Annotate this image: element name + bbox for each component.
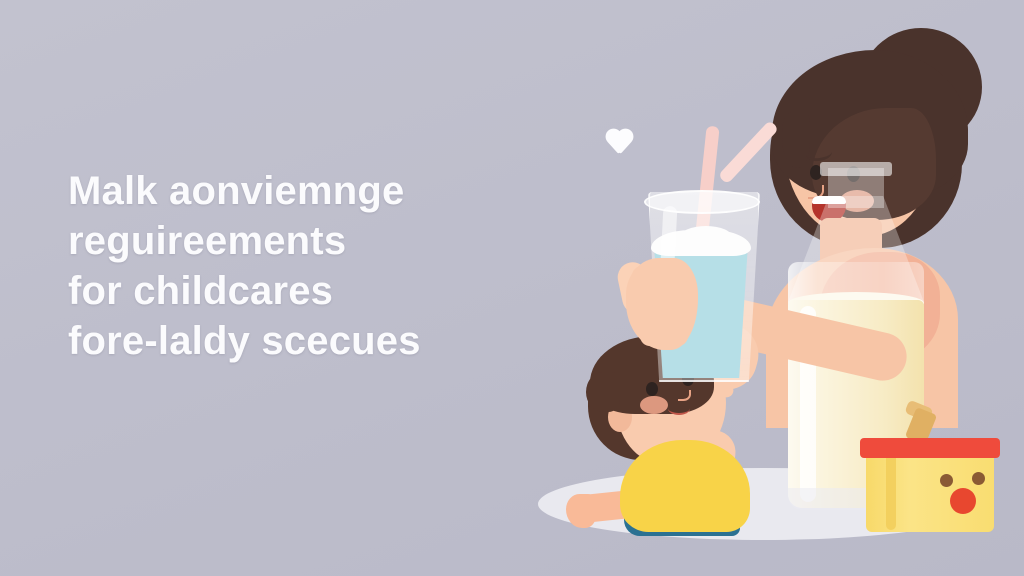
child-eye-left — [646, 382, 658, 396]
headline-line-1: Malk aonviemnge — [68, 166, 498, 216]
woman-finger — [634, 286, 690, 306]
headline-line-2: reguireements — [68, 216, 498, 266]
glass-foam-highlight — [680, 226, 732, 248]
woman-finger — [636, 306, 692, 326]
child-foot — [566, 494, 596, 528]
glass-rim — [644, 190, 760, 214]
headline-line-3: for childcares — [68, 266, 498, 316]
formula-tin-eye-left — [940, 474, 953, 487]
child-hair-tuft — [586, 372, 620, 412]
woman-sideburn — [782, 112, 810, 168]
headline-line-4: fore-laldy scecues — [68, 316, 498, 366]
formula-tin-nose — [950, 488, 976, 514]
banner-image: Malk aonviemnge reguireements for childc… — [0, 0, 1024, 576]
formula-tin-lid — [860, 438, 1000, 458]
woman-finger — [640, 326, 688, 346]
formula-tin-stripe — [886, 452, 896, 530]
formula-tin-eye-right — [972, 472, 985, 485]
child-shirt — [620, 440, 750, 532]
bottle-lip — [820, 162, 892, 176]
child-mouth — [668, 402, 690, 415]
woman-finger — [632, 266, 688, 286]
heart-icon — [608, 124, 638, 152]
page-title: Malk aonviemnge reguireements for childc… — [68, 166, 498, 366]
illustration — [520, 0, 1024, 576]
child-blush — [640, 396, 668, 414]
